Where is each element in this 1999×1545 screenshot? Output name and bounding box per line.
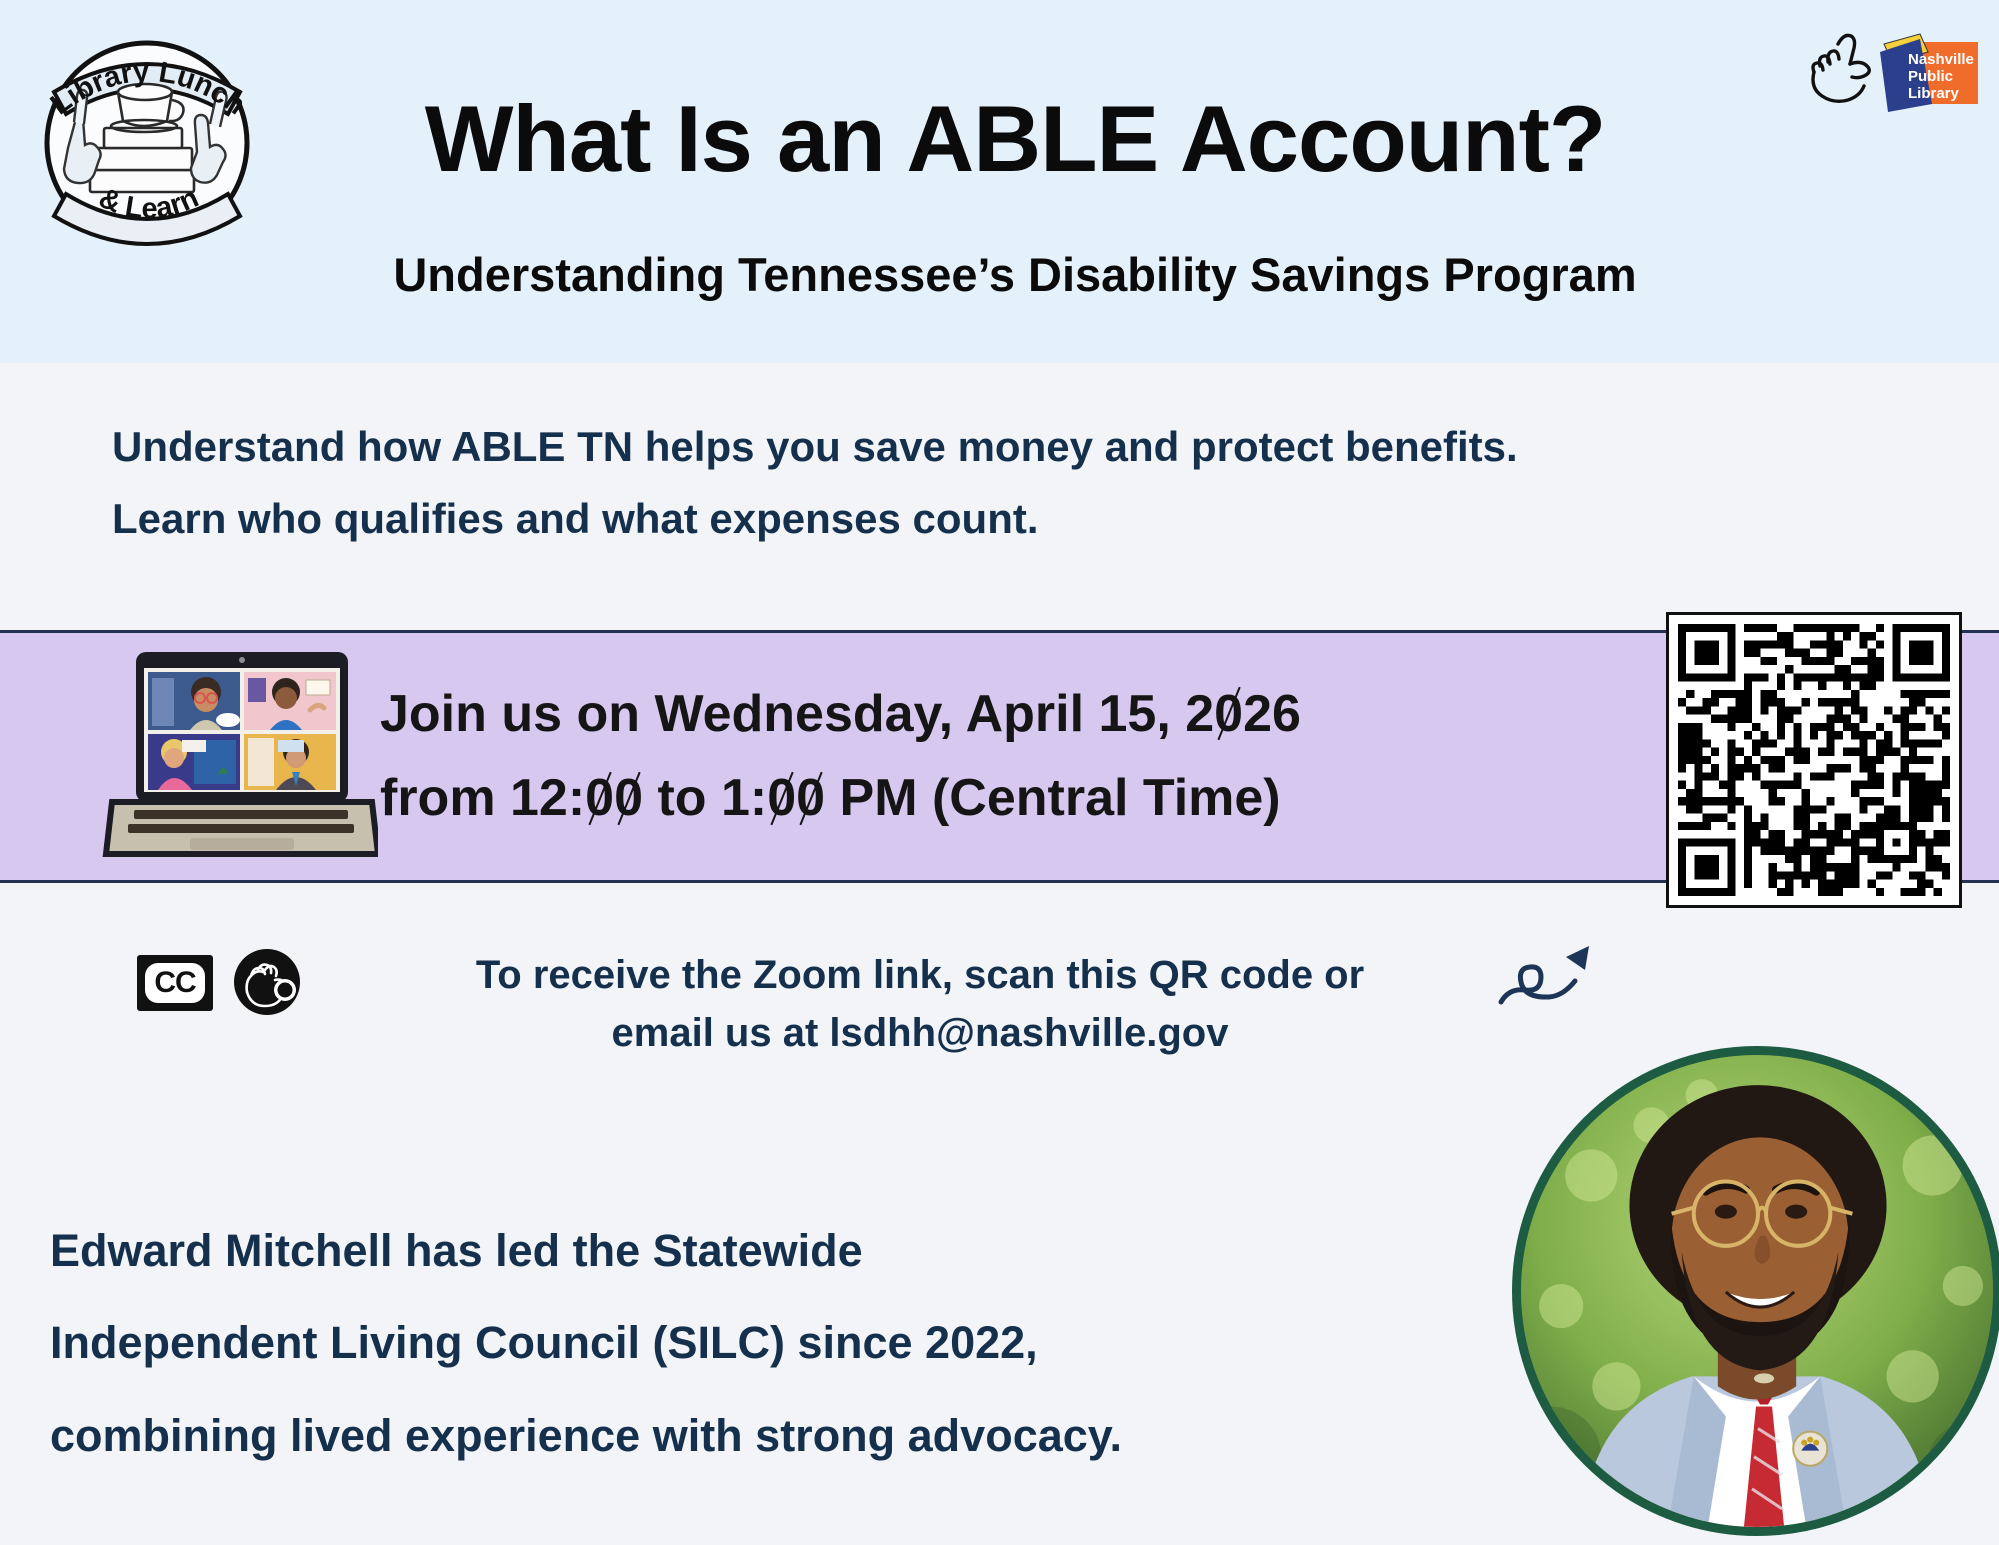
page-title: What Is an ABLE Account?: [250, 92, 1780, 186]
cc-label: CC: [145, 963, 205, 1003]
npl-name-line3: Library: [1908, 85, 1960, 102]
npl-name-line2: Public: [1908, 68, 1953, 85]
event-datetime: Join us on Wednesday, April 15, 2026 fro…: [380, 672, 1280, 840]
laptop-video-call-icon: [78, 648, 378, 866]
qr-code-icon[interactable]: [1666, 612, 1962, 908]
interpreting-hands-icon: [233, 948, 301, 1016]
library-lunch-learn-logo: Library Lunch & Learn: [22, 18, 272, 268]
flyer-canvas: Library Lunch & Learn: [0, 0, 1999, 1545]
registration-note: To receive the Zoom link, scan this QR c…: [380, 946, 1460, 1062]
speaker-bio-line-2: Independent Living Council (SILC) since …: [50, 1297, 1230, 1389]
registration-note-line-2: email us at lsdhh@nashville.gov: [380, 1004, 1460, 1062]
event-date-line: Join us on Wednesday, April 15, 2026: [380, 672, 1280, 756]
closed-caption-icon: CC: [137, 955, 213, 1011]
registration-note-line-1: To receive the Zoom link, scan this QR c…: [380, 946, 1460, 1004]
intro-line-1: Understand how ABLE TN helps you save mo…: [112, 423, 1518, 470]
speaker-portrait: [1512, 1046, 1999, 1536]
event-time-line: from 12:00 to 1:00 PM (Central Time): [380, 756, 1280, 840]
speaker-bio-line-1: Edward Mitchell has led the Statewide: [50, 1205, 1230, 1297]
page-subtitle: Understanding Tennessee’s Disability Sav…: [250, 249, 1780, 301]
intro-line-2: Learn who qualifies and what expenses co…: [112, 483, 1622, 555]
intro-paragraph: Understand how ABLE TN helps you save mo…: [112, 411, 1622, 555]
nashville-public-library-logo: Nashville Public Library: [1808, 22, 1983, 117]
curly-arrow-icon: [1493, 938, 1603, 1010]
speaker-bio: Edward Mitchell has led the Statewide In…: [50, 1205, 1230, 1482]
speaker-bio-line-3: combining lived experience with strong a…: [50, 1390, 1230, 1482]
npl-name-line1: Nashville: [1908, 51, 1974, 68]
